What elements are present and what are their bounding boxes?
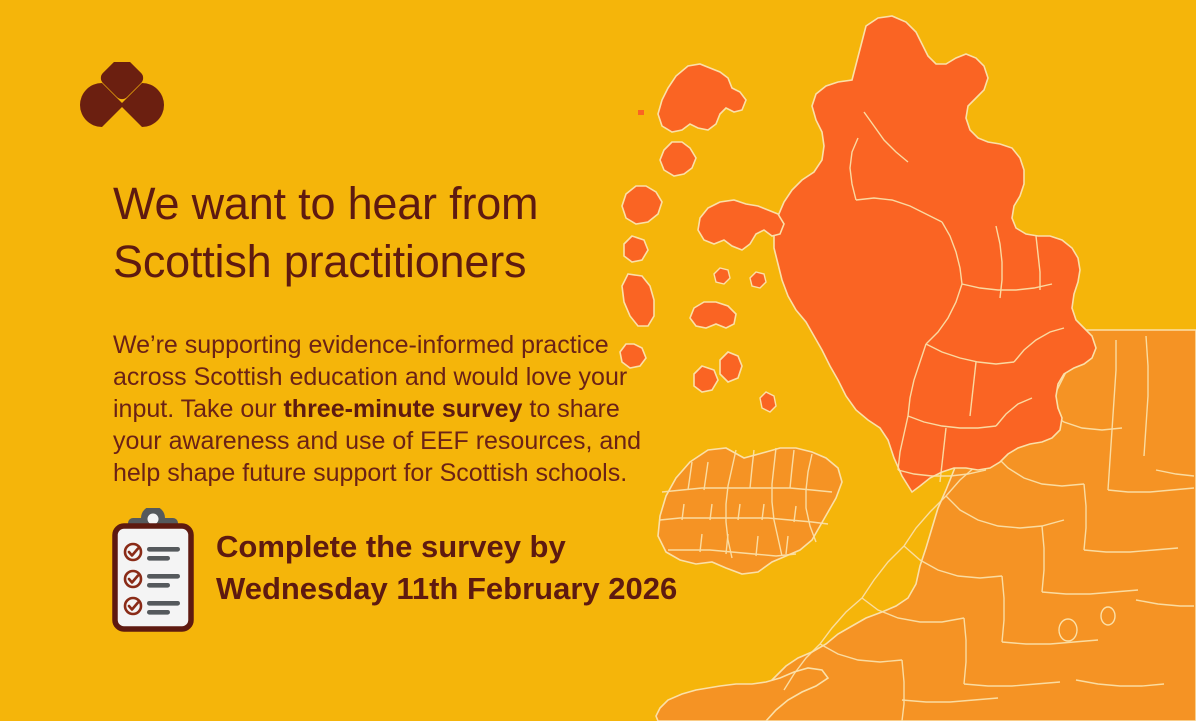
text-column: We want to hear from Scottish practition… bbox=[113, 175, 673, 489]
map-region-scotland bbox=[620, 16, 1096, 492]
cta-deadline-text: Complete the survey by Wednesday 11th Fe… bbox=[216, 526, 677, 614]
eef-logo bbox=[72, 62, 172, 142]
map-region-england-wales bbox=[656, 330, 1196, 721]
map-region-northern-ireland bbox=[658, 448, 842, 574]
call-to-action: Complete the survey by Wednesday 11th Fe… bbox=[112, 508, 677, 632]
survey-promo-banner: We want to hear from Scottish practition… bbox=[0, 0, 1196, 721]
body-paragraph: We’re supporting evidence-informed pract… bbox=[113, 329, 658, 489]
united-kingdom-map bbox=[616, 0, 1196, 721]
clipboard-checklist-icon bbox=[112, 508, 194, 632]
page-title: We want to hear from Scottish practition… bbox=[113, 175, 673, 291]
body-text-emphasis: three-minute survey bbox=[283, 395, 522, 423]
